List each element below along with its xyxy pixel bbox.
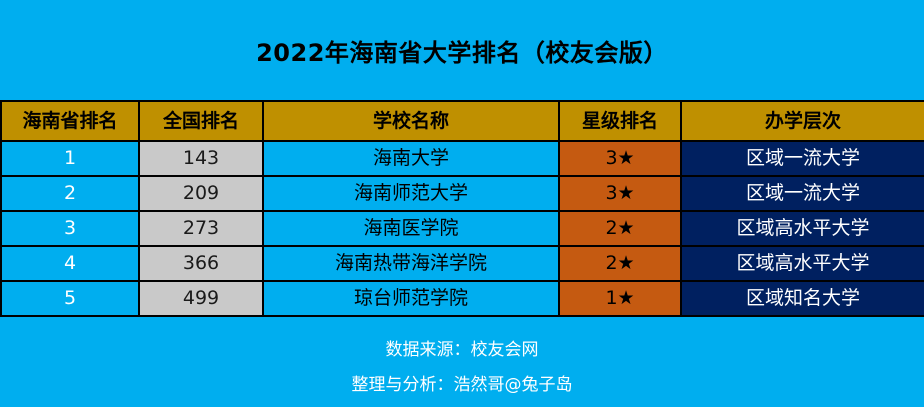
cell-star-rank: 2★ (559, 211, 681, 246)
infographic-root: 2022年海南省大学排名（校友会版） 海南省排名 全国排名 学校名称 星级排名 … (0, 0, 924, 407)
cell-national-rank: 366 (139, 246, 263, 281)
university-ranking-table: 海南省排名 全国排名 学校名称 星级排名 办学层次 1 143 海南大学 3★ … (0, 100, 924, 317)
column-header-star-rank: 星级排名 (559, 101, 681, 141)
table-row: 4 366 海南热带海洋学院 2★ 区域高水平大学 (1, 246, 924, 281)
cell-star-rank: 1★ (559, 281, 681, 316)
cell-school-name: 琼台师范学院 (263, 281, 559, 316)
column-header-school-name: 学校名称 (263, 101, 559, 141)
cell-national-rank: 499 (139, 281, 263, 316)
cell-school-name: 海南师范大学 (263, 176, 559, 211)
table-row: 5 499 琼台师范学院 1★ 区域知名大学 (1, 281, 924, 316)
title-band: 2022年海南省大学排名（校友会版） (0, 0, 924, 100)
cell-school-level: 区域一流大学 (681, 176, 924, 211)
cell-province-rank: 5 (1, 281, 139, 316)
table-row: 1 143 海南大学 3★ 区域一流大学 (1, 141, 924, 176)
column-header-school-level: 办学层次 (681, 101, 924, 141)
cell-star-rank: 3★ (559, 176, 681, 211)
author-credit-text: 整理与分析：浩然哥@兔子岛 (352, 370, 573, 395)
column-header-province-rank: 海南省排名 (1, 101, 139, 141)
cell-star-rank: 2★ (559, 246, 681, 281)
cell-star-rank: 3★ (559, 141, 681, 176)
cell-national-rank: 143 (139, 141, 263, 176)
cell-school-name: 海南热带海洋学院 (263, 246, 559, 281)
page-title: 2022年海南省大学排名（校友会版） (256, 33, 668, 68)
cell-province-rank: 2 (1, 176, 139, 211)
cell-province-rank: 1 (1, 141, 139, 176)
column-header-national-rank: 全国排名 (139, 101, 263, 141)
table-row: 3 273 海南医学院 2★ 区域高水平大学 (1, 211, 924, 246)
cell-province-rank: 3 (1, 211, 139, 246)
cell-province-rank: 4 (1, 246, 139, 281)
cell-national-rank: 209 (139, 176, 263, 211)
cell-school-level: 区域一流大学 (681, 141, 924, 176)
footer-band: 数据来源：校友会网 整理与分析：浩然哥@兔子岛 (0, 317, 924, 407)
data-source-text: 数据来源：校友会网 (386, 335, 539, 360)
table-body: 1 143 海南大学 3★ 区域一流大学 2 209 海南师范大学 3★ 区域一… (1, 141, 924, 316)
table-header-row: 海南省排名 全国排名 学校名称 星级排名 办学层次 (1, 101, 924, 141)
table-header: 海南省排名 全国排名 学校名称 星级排名 办学层次 (1, 101, 924, 141)
cell-school-level: 区域高水平大学 (681, 211, 924, 246)
cell-school-level: 区域知名大学 (681, 281, 924, 316)
cell-school-name: 海南大学 (263, 141, 559, 176)
table-row: 2 209 海南师范大学 3★ 区域一流大学 (1, 176, 924, 211)
cell-school-name: 海南医学院 (263, 211, 559, 246)
cell-national-rank: 273 (139, 211, 263, 246)
cell-school-level: 区域高水平大学 (681, 246, 924, 281)
